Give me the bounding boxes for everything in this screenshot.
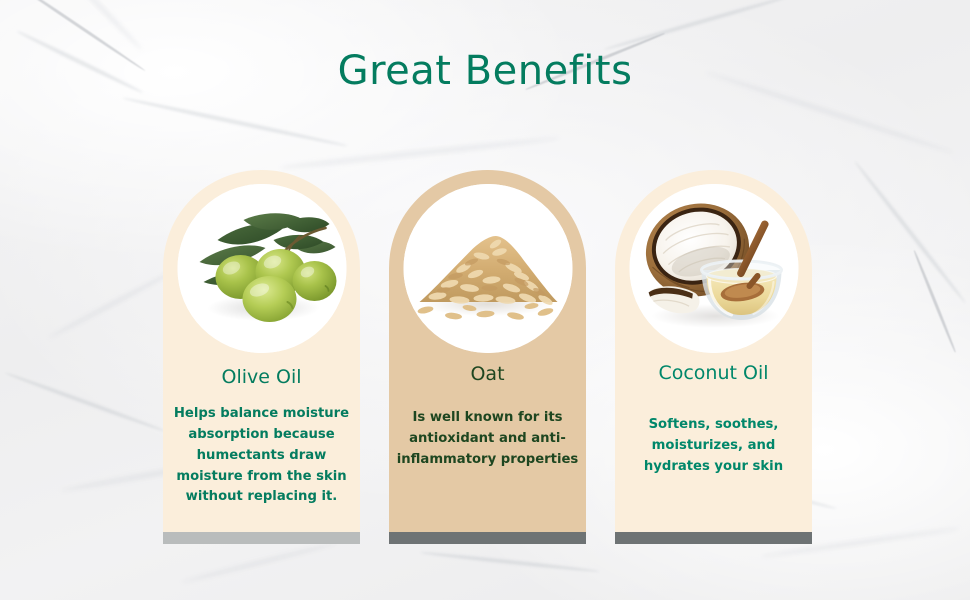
card-body: Coconut Oil Softens, soothes, moisturize… bbox=[615, 170, 812, 532]
card-bottom-bar bbox=[389, 532, 586, 544]
card-body: Oat Is well known for its antioxidant an… bbox=[389, 170, 586, 532]
card-description: Is well known for its antioxidant and an… bbox=[395, 408, 580, 471]
benefits-banner: Great Benefits bbox=[0, 0, 970, 600]
card-description: Softens, soothes, moisturizes, and hydra… bbox=[621, 415, 806, 478]
banner-title: Great Benefits bbox=[0, 48, 970, 94]
card-title: Coconut Oil bbox=[615, 362, 812, 384]
card-bottom-bar bbox=[163, 532, 360, 544]
card-title: Olive Oil bbox=[163, 366, 360, 388]
card-bottom-bar bbox=[615, 532, 812, 544]
card-title: Oat bbox=[389, 363, 586, 385]
benefit-cards-row: Olive Oil Helps balance moisture absorpt… bbox=[163, 170, 813, 550]
coconut-oil-image bbox=[629, 184, 798, 353]
benefit-card-oat[interactable]: Oat Is well known for its antioxidant an… bbox=[389, 170, 586, 544]
benefit-card-olive-oil[interactable]: Olive Oil Helps balance moisture absorpt… bbox=[163, 170, 360, 544]
olive-oil-image bbox=[177, 184, 346, 353]
oat-image bbox=[403, 184, 572, 353]
card-description: Helps balance moisture absorption becaus… bbox=[169, 404, 354, 508]
benefit-card-coconut-oil[interactable]: Coconut Oil Softens, soothes, moisturize… bbox=[615, 170, 812, 544]
card-body: Olive Oil Helps balance moisture absorpt… bbox=[163, 170, 360, 532]
